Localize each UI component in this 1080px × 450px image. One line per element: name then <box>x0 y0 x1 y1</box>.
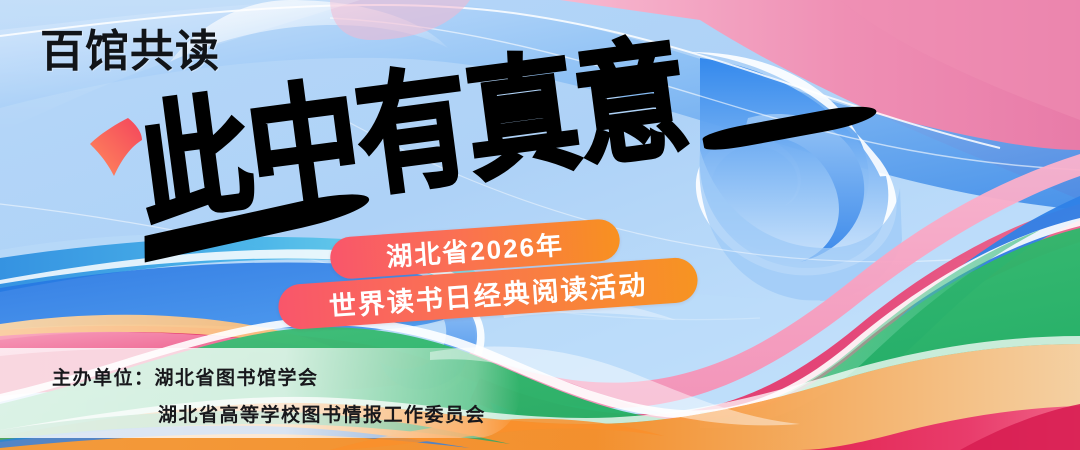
organizer-line-1: 主办单位：湖北省图书馆学会 <box>52 363 319 390</box>
calligraphic-sweep-right-icon <box>701 101 878 154</box>
kicker-text: 百馆共读 <box>40 30 220 74</box>
organizer-line-2: 湖北省高等学校图书情报工作委员会 <box>158 400 486 427</box>
promotional-banner: 百馆共读 此中有真意 湖北省2026年 世界读书日经典阅读活动 主办单位：湖北省… <box>0 0 1080 450</box>
